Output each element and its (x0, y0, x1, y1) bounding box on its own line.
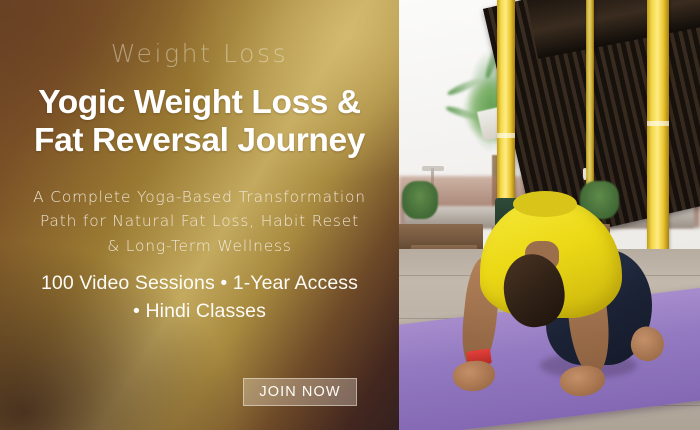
yoga-photo (399, 0, 700, 430)
eyebrow-label: Weight Loss (0, 41, 399, 66)
promo-banner: Weight Loss Yogic Weight Loss & Fat Reve… (0, 0, 700, 430)
left-hand (452, 359, 497, 393)
subheading-line-2: Path for Natural Fat Loss, Habit Reset (14, 209, 385, 233)
headline-line-1: Yogic Weight Loss & (38, 84, 360, 121)
subheading-line-3: & Long-Term Wellness (14, 234, 385, 258)
text-panel: Weight Loss Yogic Weight Loss & Fat Reve… (0, 0, 399, 430)
join-now-button[interactable]: JOIN NOW (243, 378, 357, 406)
headline-line-2: Fat Reversal Journey (8, 122, 391, 160)
features-list: 100 Video Sessions • 1-Year Access • Hin… (0, 270, 399, 325)
tshirt-collar (513, 191, 576, 217)
features-line-1: 100 Video Sessions • 1-Year Access (10, 270, 389, 298)
page-title: Yogic Weight Loss & Fat Reversal Journey (0, 84, 399, 159)
subheading-line-1: A Complete Yoga-Based Transformation (14, 185, 385, 209)
subheading: A Complete Yoga-Based Transformation Pat… (0, 185, 399, 258)
yoga-practitioner (399, 0, 700, 430)
features-line-2: • Hindi Classes (10, 298, 389, 326)
